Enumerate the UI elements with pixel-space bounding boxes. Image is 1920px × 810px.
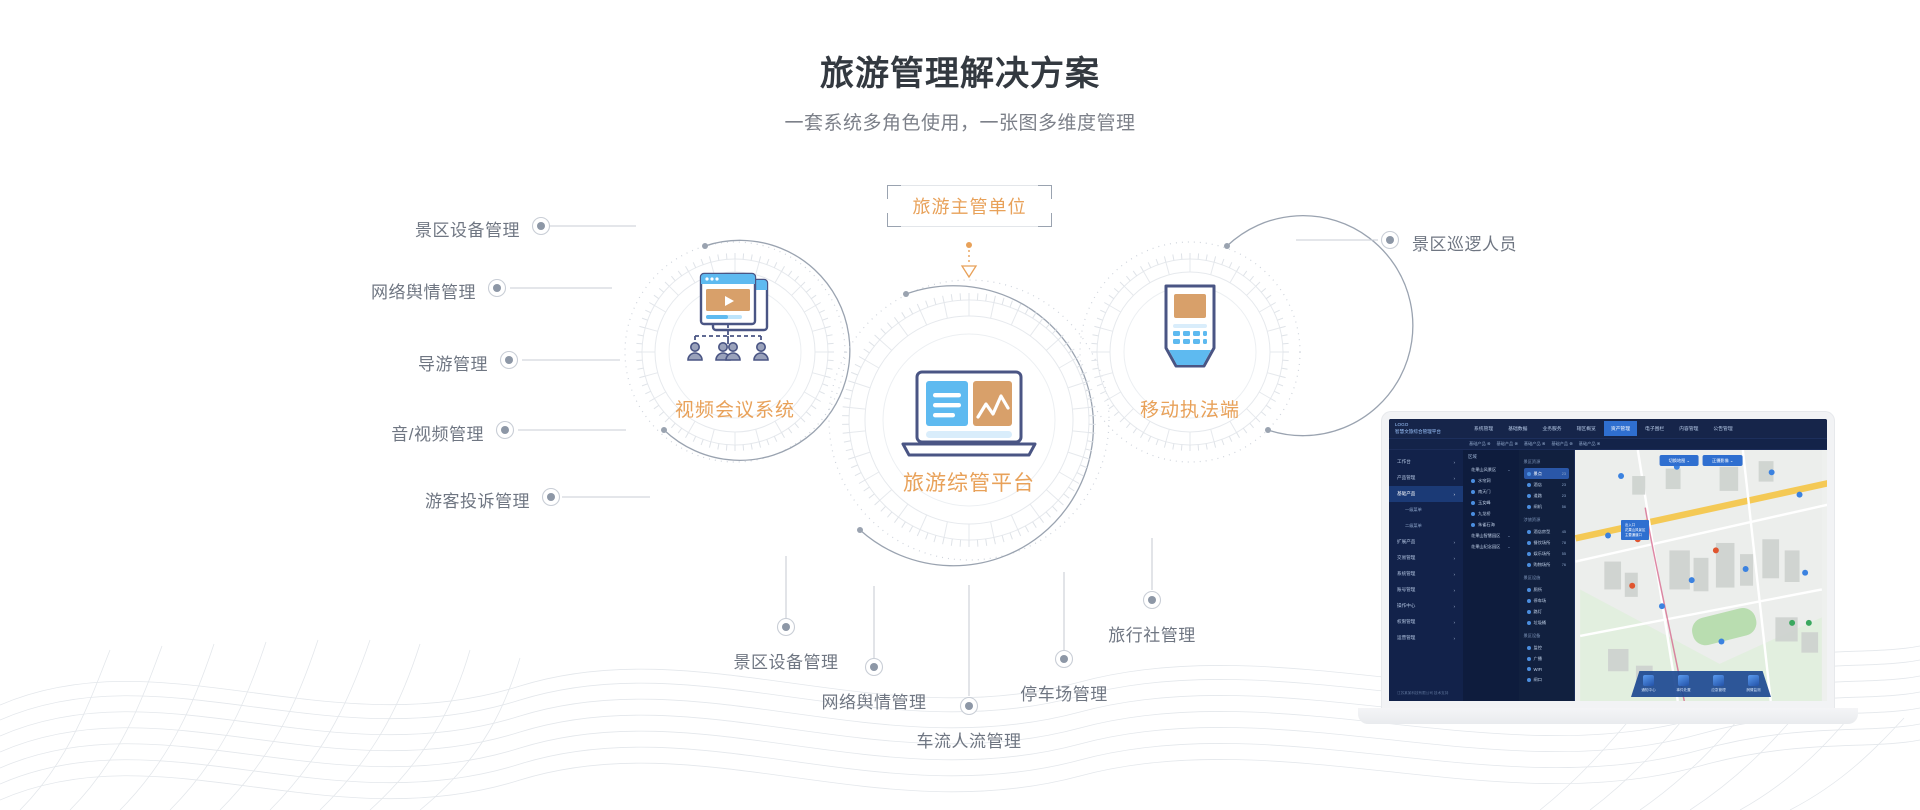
legend-color-icon bbox=[1527, 599, 1531, 603]
hub-caption-mobile-enforcement: 移动执法端 bbox=[1090, 395, 1290, 422]
node-label-left-0: 景区设备管理 bbox=[200, 216, 520, 241]
legend-item[interactable]: 娱乐场所55 bbox=[1524, 548, 1570, 559]
region-tree-item[interactable]: 花果山风景区⌄ bbox=[1468, 464, 1514, 475]
dashboard-tab[interactable]: 基础产品 ⊗ bbox=[1551, 441, 1572, 447]
sidebar-item[interactable]: 二级菜单 bbox=[1389, 518, 1463, 534]
box-edge-bottom bbox=[901, 226, 1038, 227]
page-subtitle: 一套系统多角色使用，一张图多维度管理 bbox=[0, 108, 1920, 135]
legend-item[interactable]: 垃圾桶 bbox=[1524, 617, 1570, 628]
dashboard-tab[interactable]: 基础产品 ⊗ bbox=[1524, 441, 1545, 447]
legend-label: 广播 bbox=[1534, 656, 1542, 662]
region-tree-label: 水帘洞 bbox=[1478, 478, 1491, 484]
legend-item[interactable]: 餐饮场所78 bbox=[1524, 537, 1570, 548]
dashboard-tab[interactable]: 基础产品 ⊗ bbox=[1469, 441, 1490, 447]
node-label-bottom-0: 景区设备管理 bbox=[666, 648, 906, 673]
dashboard-menu-item[interactable]: 基础数据 bbox=[1501, 421, 1534, 436]
sidebar-item[interactable]: 系统管理› bbox=[1389, 566, 1463, 582]
sidebar-item-label: 权限管理 bbox=[1397, 619, 1415, 625]
hub-caption-video-conference: 视频会议系统 bbox=[635, 395, 835, 422]
legend-color-icon bbox=[1527, 541, 1531, 545]
region-tree-label: 花果山风景区 bbox=[1471, 467, 1496, 473]
ring-video-conference bbox=[625, 240, 850, 462]
region-tree-label: 花果山智慧园区 bbox=[1471, 533, 1500, 539]
sidebar-item-list[interactable]: 工作台›产品管理›基础产品›一级菜单二级菜单扩展产品›交易管理›系统管理›账号管… bbox=[1389, 454, 1463, 646]
left-connectors bbox=[510, 226, 650, 497]
legend-label: 餐饮场所 bbox=[1534, 540, 1551, 546]
legend-count: 23 bbox=[1562, 483, 1566, 487]
legend-group-title: 景区设备 bbox=[1524, 633, 1570, 639]
legend-group-title: 景区设施 bbox=[1524, 575, 1570, 581]
sidebar-item[interactable]: 运营管理› bbox=[1389, 630, 1463, 646]
map-toggle-buttons[interactable]: 切换地图 ⌄正摄影像 ⌄ bbox=[1660, 455, 1743, 466]
region-tree-item[interactable]: 南天门 bbox=[1468, 486, 1514, 497]
legend-item[interactable]: 酒店23 bbox=[1524, 479, 1570, 490]
sidebar-item[interactable]: 一级菜单 bbox=[1389, 502, 1463, 518]
legend-label: 道路 bbox=[1534, 493, 1542, 499]
map-canvas bbox=[1575, 450, 1827, 701]
legend-color-icon bbox=[1527, 505, 1531, 509]
region-tree-list[interactable]: 花果山风景区⌄水帘洞南天门玉女峰九龙桥朱雀石海花果山智慧园区⌄花果山纪念园区⌄ bbox=[1468, 464, 1514, 552]
dashboard-menu-item[interactable]: 系统管理 bbox=[1467, 421, 1500, 436]
dashboard-tab[interactable]: 基础产品 ⊗ bbox=[1496, 441, 1517, 447]
sidebar-item-label: 工作台 bbox=[1397, 459, 1411, 465]
region-tree-item[interactable]: 玉女峰 bbox=[1468, 497, 1514, 508]
chevron-right-icon: › bbox=[1453, 556, 1455, 561]
corner-top-left bbox=[887, 185, 901, 199]
sidebar-item-label: 基础产品 bbox=[1397, 491, 1415, 497]
legend-item[interactable]: 监控 bbox=[1524, 642, 1570, 653]
map-action-icon bbox=[1713, 675, 1724, 686]
legend-color-icon bbox=[1527, 657, 1531, 661]
legend-item[interactable]: 路灯 bbox=[1524, 606, 1570, 617]
sidebar-item-label: 系统管理 bbox=[1397, 571, 1415, 577]
dashboard-menu[interactable]: 系统管理基础数据业务服务辖区概览资产管理电子围栏内容管理公告管理 bbox=[1467, 421, 1827, 436]
sidebar-item[interactable]: 工作台› bbox=[1389, 454, 1463, 470]
right-node-dots bbox=[1382, 232, 1399, 249]
dashboard-menu-item[interactable]: 业务服务 bbox=[1535, 421, 1568, 436]
handheld-device-icon bbox=[1166, 286, 1214, 366]
chevron-right-icon: › bbox=[1453, 588, 1455, 593]
chevron-right-icon: › bbox=[1453, 540, 1455, 545]
legend-color-icon bbox=[1527, 678, 1531, 682]
legend-list[interactable]: 景区资源景点23酒店23道路23闸机56涉旅资源酒店房型45餐饮场所78娱乐场所… bbox=[1524, 459, 1570, 685]
legend-color-icon bbox=[1527, 588, 1531, 592]
box-edge-top bbox=[901, 185, 1038, 186]
chevron-right-icon: › bbox=[1453, 572, 1455, 577]
dashboard-sidebar[interactable]: 工作台›产品管理›基础产品›一级菜单二级菜单扩展产品›交易管理›系统管理›账号管… bbox=[1389, 450, 1463, 701]
map-toggle-button[interactable]: 正摄影像 ⌄ bbox=[1703, 455, 1742, 466]
dashboard-menu-item[interactable]: 资产管理 bbox=[1604, 421, 1637, 436]
chevron-right-icon: › bbox=[1453, 636, 1455, 641]
legend-color-icon bbox=[1527, 552, 1531, 556]
legend-count: 78 bbox=[1562, 541, 1566, 545]
chevron-right-icon: › bbox=[1453, 476, 1455, 481]
chevron-right-icon: › bbox=[1453, 460, 1455, 465]
page-title: 旅游管理解决方案 bbox=[0, 46, 1920, 95]
map-bottom-bar[interactable]: 通知中心事件处置应急管理舆情监测 bbox=[1631, 671, 1771, 697]
legend-color-icon bbox=[1527, 494, 1531, 498]
legend-label: 闸口 bbox=[1534, 677, 1542, 683]
sidebar-item-label: 一级菜单 bbox=[1405, 507, 1422, 513]
region-tree-label: 玉女峰 bbox=[1478, 500, 1491, 506]
left-node-dots bbox=[489, 218, 560, 506]
sidebar-item-label: 账号管理 bbox=[1397, 587, 1415, 593]
map-location-tag: 出入口 花果山风景区 主要通道口 bbox=[1621, 520, 1649, 540]
laptop-mockup: LOGO 智慧文旅综合管理平台 系统管理基础数据业务服务辖区概览资产管理电子围栏… bbox=[1358, 412, 1858, 762]
sidebar-item[interactable]: 扩展产品› bbox=[1389, 534, 1463, 550]
node-label-bottom-2: 车流人流管理 bbox=[849, 727, 1089, 752]
map-action-item[interactable]: 通知中心 bbox=[1641, 675, 1655, 693]
region-tree-label: 花果山纪念园区 bbox=[1471, 544, 1500, 550]
region-tree-label: 朱雀石海 bbox=[1478, 522, 1495, 528]
chevron-down-icon[interactable]: ⌄ bbox=[1507, 544, 1510, 549]
tree-bullet-icon bbox=[1471, 479, 1475, 483]
legend-label: 闸机 bbox=[1534, 504, 1542, 510]
dashboard-map[interactable]: 出入口 花果山风景区 主要通道口 切换地图 ⌄正摄影像 ⌄ 通知中心事件处置应急… bbox=[1575, 450, 1827, 701]
dashboard-logo: LOGO 智慧文旅综合管理平台 bbox=[1389, 422, 1467, 436]
legend-label: 垃圾桶 bbox=[1534, 620, 1547, 626]
legend-color-icon bbox=[1527, 483, 1531, 487]
dashboard-menu-item[interactable]: 内容管理 bbox=[1672, 421, 1705, 436]
infographic-canvas: 旅游管理解决方案 一套系统多角色使用，一张图多维度管理 旅游主管单位 bbox=[0, 0, 1920, 810]
logo-line-1: LOGO bbox=[1395, 422, 1467, 429]
node-label-left-3: 音/视频管理 bbox=[164, 420, 484, 445]
legend-item[interactable]: 景点23 bbox=[1524, 468, 1570, 479]
chevron-right-icon: › bbox=[1453, 604, 1455, 609]
authority-box: 旅游主管单位 bbox=[887, 185, 1052, 227]
authority-connector bbox=[962, 242, 976, 277]
dashboard-topbar: LOGO 智慧文旅综合管理平台 系统管理基础数据业务服务辖区概览资产管理电子围栏… bbox=[1389, 419, 1827, 439]
region-tree-item[interactable]: 朱雀石海 bbox=[1468, 519, 1514, 530]
region-tree-label: 九龙桥 bbox=[1478, 511, 1491, 517]
map-toggle-button[interactable]: 切换地图 ⌄ bbox=[1660, 455, 1699, 466]
region-tree-label: 南天门 bbox=[1478, 489, 1491, 495]
corner-bottom-left bbox=[887, 213, 901, 227]
legend-label: 酒店 bbox=[1534, 482, 1542, 488]
node-label-left-4: 游客投诉管理 bbox=[210, 487, 530, 512]
legend-label: 购物场所 bbox=[1534, 562, 1551, 568]
legend-item[interactable]: 停车场 bbox=[1524, 595, 1570, 606]
sidebar-item-label: 二级菜单 bbox=[1405, 523, 1422, 529]
sidebar-footer: 江苏某某科技有限公司 技术支持 bbox=[1389, 687, 1463, 701]
region-tree-header: 区域 bbox=[1468, 454, 1514, 460]
region-tree-column[interactable]: 区域 花果山风景区⌄水帘洞南天门玉女峰九龙桥朱雀石海花果山智慧园区⌄花果山纪念园… bbox=[1463, 450, 1519, 701]
node-label-bottom-4: 旅行社管理 bbox=[1032, 621, 1272, 646]
sidebar-item[interactable]: 产品管理› bbox=[1389, 470, 1463, 486]
legend-count: 76 bbox=[1562, 563, 1566, 567]
dashboard-tab[interactable]: 基础产品 ⊗ bbox=[1579, 441, 1600, 447]
region-tree-item[interactable]: 花果山纪念园区⌄ bbox=[1468, 541, 1514, 552]
dashboard-menu-item[interactable]: 电子围栏 bbox=[1638, 421, 1671, 436]
corner-top-right bbox=[1038, 185, 1052, 199]
sidebar-item-label: 扩展产品 bbox=[1397, 539, 1415, 545]
dashboard-menu-item[interactable]: 公告管理 bbox=[1706, 421, 1739, 436]
legend-item[interactable]: 闸机56 bbox=[1524, 501, 1570, 512]
tree-bullet-icon bbox=[1471, 490, 1475, 494]
legend-color-icon bbox=[1527, 563, 1531, 567]
node-label-left-1: 网络舆情管理 bbox=[156, 278, 476, 303]
dashboard-panel[interactable]: 区域 花果山风景区⌄水帘洞南天门玉女峰九龙桥朱雀石海花果山智慧园区⌄花果山纪念园… bbox=[1463, 450, 1575, 701]
sidebar-item[interactable]: 操作中心› bbox=[1389, 598, 1463, 614]
node-label-left-2: 导游管理 bbox=[168, 350, 488, 375]
legend-label: 酒店房型 bbox=[1534, 529, 1551, 535]
legend-group-title: 景区资源 bbox=[1524, 459, 1570, 465]
map-action-item[interactable]: 事件处置 bbox=[1676, 675, 1690, 693]
legend-item[interactable]: 酒店房型45 bbox=[1524, 526, 1570, 537]
sidebar-item-label: 交易管理 bbox=[1397, 555, 1415, 561]
hub-caption-tourism-platform: 旅游综管平台 bbox=[869, 467, 1069, 497]
laptop-base bbox=[1358, 708, 1858, 724]
sidebar-item[interactable]: 权限管理› bbox=[1389, 614, 1463, 630]
legend-item[interactable]: 闸口 bbox=[1524, 674, 1570, 685]
legend-color-icon bbox=[1527, 667, 1531, 671]
region-tree-item[interactable]: 九龙桥 bbox=[1468, 508, 1514, 519]
legend-color-icon bbox=[1527, 472, 1531, 476]
legend-count: 23 bbox=[1562, 472, 1566, 476]
chevron-down-icon[interactable]: ⌄ bbox=[1507, 467, 1510, 472]
legend-color-icon bbox=[1527, 621, 1531, 625]
chevron-right-icon: › bbox=[1453, 492, 1455, 497]
sidebar-item[interactable]: 基础产品› bbox=[1389, 486, 1463, 502]
legend-count: 55 bbox=[1562, 552, 1566, 556]
ring-tourism-platform bbox=[829, 280, 1109, 566]
legend-color-icon bbox=[1527, 530, 1531, 534]
authority-label: 旅游主管单位 bbox=[913, 193, 1027, 219]
legend-count: 45 bbox=[1562, 530, 1566, 534]
legend-label: 路灯 bbox=[1534, 609, 1542, 615]
chevron-down-icon[interactable]: ⌄ bbox=[1507, 533, 1510, 538]
dashboard-app: LOGO 智慧文旅综合管理平台 系统管理基础数据业务服务辖区概览资产管理电子围栏… bbox=[1389, 419, 1827, 701]
sidebar-item[interactable]: 账号管理› bbox=[1389, 582, 1463, 598]
laptop-dashboard-icon bbox=[903, 372, 1035, 455]
legend-item[interactable]: 广播 bbox=[1524, 653, 1570, 664]
map-action-icon bbox=[1643, 675, 1654, 686]
legend-group-title: 涉旅资源 bbox=[1524, 517, 1570, 523]
legend-column[interactable]: 景区资源景点23酒店23道路23闸机56涉旅资源酒店房型45餐饮场所78娱乐场所… bbox=[1519, 450, 1575, 701]
legend-label: 停车场 bbox=[1534, 598, 1547, 604]
sidebar-item-label: 运营管理 bbox=[1397, 635, 1415, 641]
legend-item[interactable]: 道路23 bbox=[1524, 490, 1570, 501]
dashboard-tabbar[interactable]: 基础产品 ⊗基础产品 ⊗基础产品 ⊗基础产品 ⊗基础产品 ⊗ bbox=[1389, 439, 1827, 450]
legend-label: 监控 bbox=[1534, 645, 1542, 651]
legend-item[interactable]: WIFI bbox=[1524, 664, 1570, 674]
region-tree-item[interactable]: 花果山智慧园区⌄ bbox=[1468, 530, 1514, 541]
map-action-item[interactable]: 舆情监测 bbox=[1746, 675, 1760, 693]
legend-item[interactable]: 厕所 bbox=[1524, 584, 1570, 595]
legend-color-icon bbox=[1527, 646, 1531, 650]
legend-count: 23 bbox=[1562, 494, 1566, 498]
tree-bullet-icon bbox=[1471, 501, 1475, 505]
legend-label: 娱乐场所 bbox=[1534, 551, 1551, 557]
sidebar-item-label: 操作中心 bbox=[1397, 603, 1415, 609]
node-label-right-0: 景区巡逻人员 bbox=[1412, 230, 1517, 255]
tree-bullet-icon bbox=[1471, 523, 1475, 527]
dashboard-menu-item[interactable]: 辖区概览 bbox=[1570, 421, 1603, 436]
map-action-icon bbox=[1678, 675, 1689, 686]
map-action-icon bbox=[1748, 675, 1759, 686]
logo-line-2: 智慧文旅综合管理平台 bbox=[1395, 429, 1467, 436]
legend-label: 景点 bbox=[1534, 471, 1542, 477]
legend-label: 厕所 bbox=[1534, 587, 1542, 593]
laptop-screen: LOGO 智慧文旅综合管理平台 系统管理基础数据业务服务辖区概览资产管理电子围栏… bbox=[1382, 412, 1834, 708]
legend-color-icon bbox=[1527, 610, 1531, 614]
legend-count: 56 bbox=[1562, 505, 1566, 509]
region-tree-item[interactable]: 水帘洞 bbox=[1468, 475, 1514, 486]
legend-item[interactable]: 购物场所76 bbox=[1524, 559, 1570, 570]
map-action-item[interactable]: 应急管理 bbox=[1711, 675, 1725, 693]
node-label-bottom-3: 停车场管理 bbox=[944, 680, 1184, 705]
legend-label: WIFI bbox=[1534, 667, 1543, 672]
chevron-right-icon: › bbox=[1453, 620, 1455, 625]
video-conference-icon bbox=[688, 274, 768, 360]
tree-bullet-icon bbox=[1471, 512, 1475, 516]
sidebar-item[interactable]: 交易管理› bbox=[1389, 550, 1463, 566]
dashboard-body: 工作台›产品管理›基础产品›一级菜单二级菜单扩展产品›交易管理›系统管理›账号管… bbox=[1389, 450, 1827, 701]
sidebar-item-label: 产品管理 bbox=[1397, 475, 1415, 481]
corner-bottom-right bbox=[1038, 213, 1052, 227]
